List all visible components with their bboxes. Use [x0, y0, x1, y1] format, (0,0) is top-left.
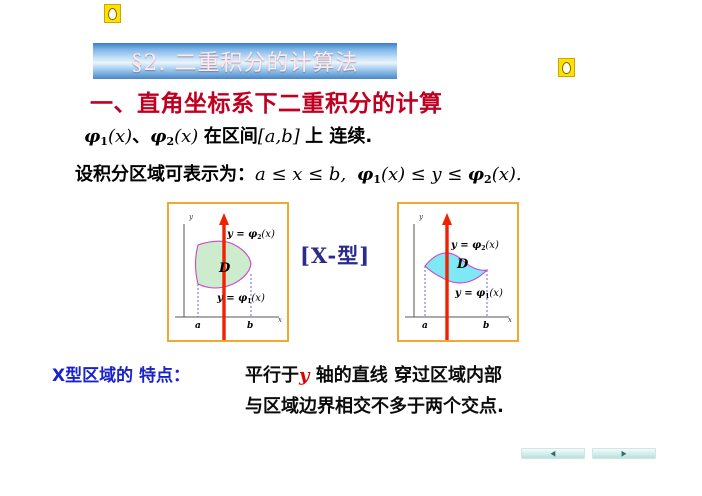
arrow-right-icon: ►	[620, 449, 628, 459]
bound-y-middle: ≤ y ≤	[411, 164, 463, 185]
bound-phi2-subscript: 2	[484, 173, 492, 186]
bound-phi1-argument: (x)	[381, 164, 405, 185]
phi2-subscript: 2	[166, 135, 174, 148]
figure-left-svg: y x a b D y = φ2(x) y = φ1(x)	[169, 204, 287, 340]
phi1-symbol: φ	[84, 126, 100, 147]
bound-x: a ≤ x ≤ b,	[255, 164, 346, 185]
figure-x-type-lens: y x a b D y = φ2(x) y = φ1(x)	[397, 202, 519, 342]
yellow-note-icon[interactable]	[558, 58, 575, 77]
feature-axis-y: y	[299, 365, 309, 386]
next-slide-button[interactable]: ►	[592, 448, 656, 459]
bound-phi1-subscript: 1	[373, 173, 381, 186]
curve-label-upper: y = φ2(x)	[450, 240, 499, 252]
interval-ab: [a,b]	[258, 126, 300, 147]
curve-label-upper: y = φ2(x)	[226, 229, 275, 241]
bound-phi2-argument: (x).	[492, 164, 522, 185]
figure-x-type-convex: y x a b D y = φ2(x) y = φ1(x)	[167, 202, 289, 342]
feature-line-1: 平行于y 轴的直线 穿过区域内部	[245, 361, 502, 387]
curve-label-lower: y = φ1(x)	[216, 293, 265, 305]
region-label-D: D	[218, 261, 231, 276]
x-axis-label: x	[278, 316, 282, 324]
tick-label-a: a	[195, 321, 201, 331]
feature-label: X型区域的 特点：	[52, 361, 190, 386]
region-lead-text: 设积分区域可表示为：	[75, 164, 255, 185]
note-blob-icon	[108, 8, 117, 20]
phi2-argument: (x)	[174, 126, 198, 147]
tick-label-b: b	[483, 321, 489, 331]
x-axis-label: x	[508, 316, 512, 324]
bound-phi2-symbol: φ	[468, 164, 484, 185]
separator-ideographic: 、	[132, 126, 150, 147]
figure-right-svg: y x a b D y = φ2(x) y = φ1(x)	[399, 204, 517, 340]
tick-label-b: b	[247, 321, 253, 331]
statement-region: 设积分区域可表示为：a ≤ x ≤ b, φ1(x) ≤ y ≤ φ2(x).	[75, 160, 522, 186]
text-continuous: 上 连续.	[305, 126, 372, 147]
feature-line1-prefix: 平行于	[245, 365, 299, 386]
feature-line1-suffix: 轴的直线 穿过区域内部	[316, 365, 502, 386]
arrow-left-icon: ◄	[549, 449, 557, 459]
tick-label-a: a	[422, 321, 428, 331]
y-axis-label: y	[188, 213, 194, 221]
feature-line-2: 与区域边界相交不多于两个交点.	[245, 392, 504, 418]
y-axis-label: y	[418, 213, 424, 221]
statement-continuity: φ1(x)、φ2(x) 在区间[a,b] 上 连续.	[84, 122, 372, 148]
section-heading: 一、直角坐标系下二重积分的计算	[90, 84, 443, 118]
arrow-head-icon	[442, 213, 452, 225]
title-banner: §2. 二重积分的计算法	[93, 43, 397, 79]
previous-slide-button[interactable]: ◄	[521, 448, 585, 459]
yellow-note-icon[interactable]	[104, 4, 121, 23]
phi1-subscript: 1	[100, 135, 108, 148]
phi1-argument: (x)	[108, 126, 132, 147]
text-on-interval: 在区间	[204, 126, 258, 147]
curve-label-lower: y = φ1(x)	[454, 288, 503, 300]
arrow-head-icon	[219, 213, 229, 225]
phi2-symbol: φ	[150, 126, 166, 147]
region-D-shape	[425, 253, 487, 283]
note-blob-icon	[562, 62, 571, 74]
slide-canvas: §2. 二重积分的计算法 一、直角坐标系下二重积分的计算 φ1(x)、φ2(x)…	[0, 0, 702, 496]
bound-phi1-symbol: φ	[357, 164, 373, 185]
title-banner-text: §2. 二重积分的计算法	[132, 45, 359, 77]
x-type-label: [X-型]	[300, 240, 370, 270]
region-label-D: D	[456, 257, 469, 272]
